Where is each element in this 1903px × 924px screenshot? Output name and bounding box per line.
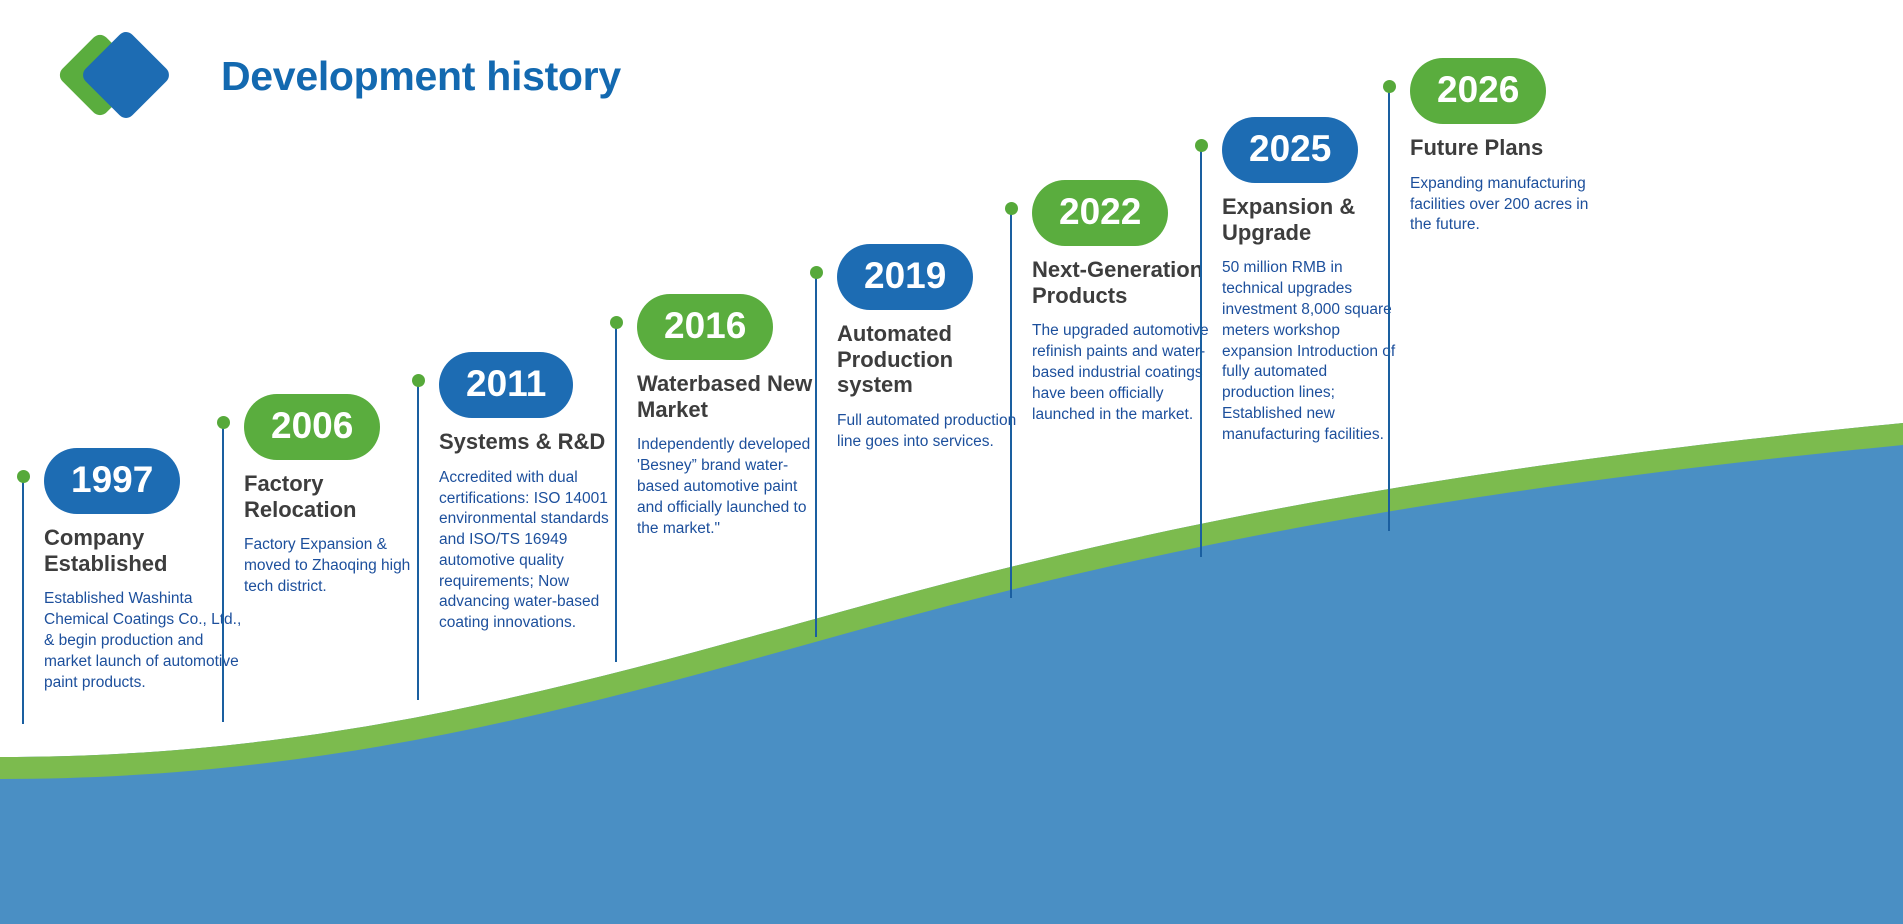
entry-description: Full automated production line goes into… bbox=[837, 411, 1022, 453]
entry-description: Established Washinta Chemical Coatings C… bbox=[44, 589, 244, 693]
year-badge[interactable]: 2019 bbox=[837, 244, 973, 310]
entry-title: Automated Production system bbox=[837, 321, 1022, 398]
timeline-dot-icon bbox=[610, 316, 623, 329]
entry-body: 1997 Company Established Established Was… bbox=[44, 448, 244, 693]
year-badge[interactable]: 2006 bbox=[244, 394, 380, 460]
connector-line bbox=[1010, 208, 1012, 598]
timeline-dot-icon bbox=[217, 416, 230, 429]
year-badge[interactable]: 2022 bbox=[1032, 180, 1168, 246]
entry-description: The upgraded automotive refinish paints … bbox=[1032, 321, 1212, 425]
connector-line bbox=[22, 476, 24, 724]
entry-description: Factory Expansion & moved to Zhaoqing hi… bbox=[244, 535, 429, 597]
connector-line bbox=[417, 380, 419, 700]
year-badge[interactable]: 2025 bbox=[1222, 117, 1358, 183]
entry-body: 2019 Automated Production system Full au… bbox=[837, 244, 1022, 453]
year-badge[interactable]: 2016 bbox=[637, 294, 773, 360]
entry-title: Expansion & Upgrade bbox=[1222, 194, 1402, 245]
entry-body: 2022 Next-Generation Products The upgrad… bbox=[1032, 180, 1212, 425]
timeline-dot-icon bbox=[412, 374, 425, 387]
entry-body: 2016 Waterbased New Market Independently… bbox=[637, 294, 822, 539]
timeline-dot-icon bbox=[1383, 80, 1396, 93]
page-title: Development history bbox=[221, 53, 621, 100]
entry-body: 2006 Factory Relocation Factory Expansio… bbox=[244, 394, 429, 598]
entry-body: 2011 Systems & R&D Accredited with dual … bbox=[439, 352, 629, 634]
connector-line bbox=[615, 322, 617, 662]
entry-title: Waterbased New Market bbox=[637, 371, 822, 422]
entry-title: Factory Relocation bbox=[244, 471, 429, 522]
connector-line bbox=[1200, 145, 1202, 557]
connector-line bbox=[222, 422, 224, 722]
year-badge[interactable]: 1997 bbox=[44, 448, 180, 514]
year-badge[interactable]: 2011 bbox=[439, 352, 573, 418]
diamond-logo-icon bbox=[55, 22, 173, 130]
header: Development history bbox=[55, 22, 621, 130]
entry-title: Company Established bbox=[44, 525, 244, 576]
entry-title: Next-Generation Products bbox=[1032, 257, 1212, 308]
connector-line bbox=[1388, 86, 1390, 531]
infographic-canvas: Development history 1997 Company Establi… bbox=[0, 0, 1903, 924]
entry-title: Systems & R&D bbox=[439, 429, 629, 455]
entry-title: Future Plans bbox=[1410, 135, 1590, 161]
timeline-dot-icon bbox=[17, 470, 30, 483]
timeline-dot-icon bbox=[810, 266, 823, 279]
entry-body: 2025 Expansion & Upgrade 50 million RMB … bbox=[1222, 117, 1402, 445]
entry-body: 2026 Future Plans Expanding manufacturin… bbox=[1410, 58, 1590, 236]
timeline-dot-icon bbox=[1005, 202, 1018, 215]
year-badge[interactable]: 2026 bbox=[1410, 58, 1546, 124]
entry-description: Expanding manufacturing facilities over … bbox=[1410, 174, 1590, 236]
entry-description: 50 million RMB in technical upgrades inv… bbox=[1222, 258, 1402, 445]
connector-line bbox=[815, 272, 817, 637]
timeline-dot-icon bbox=[1195, 139, 1208, 152]
entry-description: Accredited with dual certifications: ISO… bbox=[439, 468, 629, 634]
entry-description: Independently developed 'Besney” brand w… bbox=[637, 435, 822, 539]
